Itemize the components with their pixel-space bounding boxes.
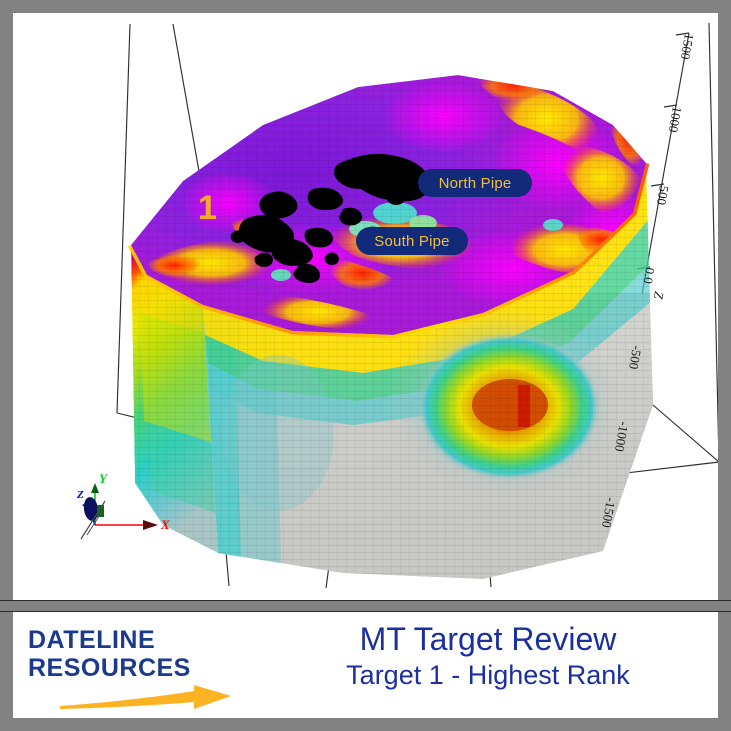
triad-x-label: X [161, 517, 170, 533]
footer-bar: DATELINE RESOURCES MT Target Review Targ… [13, 612, 718, 718]
z-tick-500: 500 [653, 184, 672, 206]
annotation-north-pipe[interactable]: North Pipe [418, 169, 532, 197]
logo-line-2: RESOURCES [28, 654, 258, 682]
divider-top [0, 600, 731, 601]
triad-y-label: Y [99, 471, 107, 487]
page-subtitle: Target 1 - Highest Rank [263, 659, 713, 692]
target-number-label: 1 [198, 191, 217, 225]
annotation-south-pipe-label: South Pipe [374, 233, 449, 250]
model-viewport[interactable]: 1 North Pipe South Pipe 1500 1000 500 0.… [13, 13, 718, 600]
triad-z-label: Z [77, 489, 84, 501]
slide-title-block: MT Target Review Target 1 - Highest Rank [263, 620, 713, 692]
z-tick-0: 0.0 [639, 266, 658, 285]
logo-arrow-icon [58, 684, 233, 710]
annotation-south-pipe[interactable]: South Pipe [356, 227, 468, 255]
company-logo: DATELINE RESOURCES [28, 626, 258, 682]
page-title: MT Target Review [263, 620, 713, 659]
annotation-north-pipe-label: North Pipe [439, 175, 512, 192]
slide-root: 1 North Pipe South Pipe 1500 1000 500 0.… [0, 0, 731, 731]
logo-line-1: DATELINE [28, 626, 258, 654]
